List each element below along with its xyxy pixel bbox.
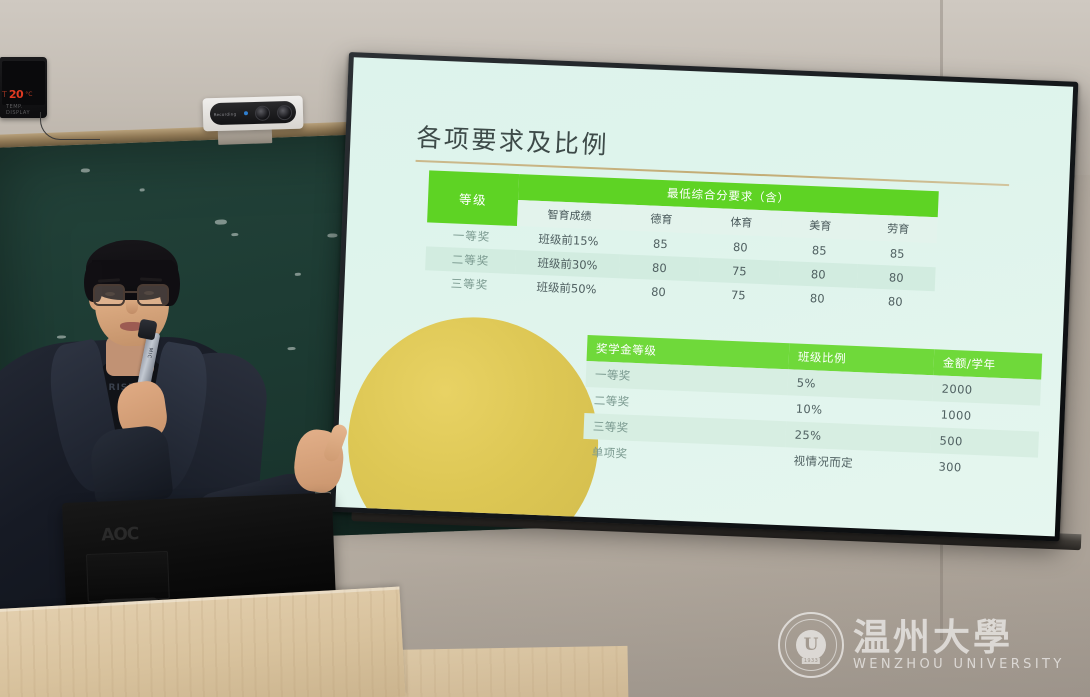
cell-physical: 75 <box>699 258 780 285</box>
cell-ratio: 视情况而定 <box>784 447 930 479</box>
presenter-left-sleeve <box>88 424 173 506</box>
ceiling-camera-bar: Recording <box>203 96 304 132</box>
scholarship-table: 奖学金等级 班级比例 金额/学年 一等奖 5% 2000 二等奖 10% 100… <box>582 335 1042 484</box>
gold-circle-decoration <box>343 312 603 536</box>
chalk-dust <box>140 188 145 191</box>
subheader-aesthetic: 美育 <box>781 211 860 240</box>
university-name-en: WENZHOU UNIVERSITY <box>853 657 1065 672</box>
university-watermark: U 1933 温州大學 WENZHOU UNIVERSITY <box>778 612 1065 678</box>
cell-moral: 85 <box>620 230 701 257</box>
cell-physical: 80 <box>700 234 781 261</box>
camera-face: Recording <box>210 101 297 125</box>
university-name-cn: 温州大學 <box>853 618 1065 657</box>
cell-aesthetic: 80 <box>778 285 857 312</box>
watermark-text-block: 温州大學 WENZHOU UNIVERSITY <box>853 618 1065 673</box>
camera-lens-icon <box>255 105 270 120</box>
subheader-labor: 劳育 <box>859 214 938 243</box>
requirements-table: 等级 最低综合分要求（含） 智育成绩 德育 体育 美育 劳育 一等奖 班级前15… <box>424 170 939 315</box>
glasses-bridge <box>125 291 137 293</box>
cell-aesthetic: 80 <box>779 261 858 288</box>
thermometer-readout: T 20 °C <box>2 87 45 101</box>
camera-led-icon <box>244 111 248 115</box>
university-seal-icon: U 1933 <box>778 612 844 678</box>
seal-founding-year: 1933 <box>802 658 820 664</box>
monitor-brand-logo: AOC <box>101 524 139 545</box>
subheader-moral: 德育 <box>621 204 702 233</box>
cell-labor: 80 <box>856 288 935 315</box>
glasses-lens-right <box>137 284 169 306</box>
thermometer-prefix: T <box>2 90 7 99</box>
subheader-physical: 体育 <box>701 208 782 237</box>
chalk-dust <box>215 219 227 224</box>
thermometer-unit: °C <box>25 91 32 98</box>
microphone-head <box>137 319 157 341</box>
classroom-photo: T 20 °C TEMP. DISPLAY Recording 各项要求及比例 <box>0 0 1090 697</box>
camera-lens-icon <box>277 104 292 119</box>
projection-display: 各项要求及比例 等级 最低综合分要求（含） 智育成绩 德育 体育 <box>330 52 1078 542</box>
cell-amount: 300 <box>929 453 1038 483</box>
cell-moral: 80 <box>619 254 700 281</box>
cell-rank: 一等奖 <box>426 222 517 250</box>
chalk-dust <box>81 168 90 172</box>
presenter-nose <box>126 300 138 314</box>
thermometer-cable <box>40 112 100 140</box>
presentation-slide: 各项要求及比例 等级 最低综合分要求（含） 智育成绩 德育 体育 <box>335 57 1073 536</box>
podium-right-section <box>377 646 628 697</box>
cell-rank: 二等奖 <box>425 246 516 274</box>
cell-aesthetic: 85 <box>780 237 859 264</box>
slide-title: 各项要求及比例 <box>416 118 610 162</box>
thermometer-temperature: 20 <box>9 88 23 101</box>
camera-brand-label: Recording <box>214 111 237 117</box>
cell-academic: 班级前50% <box>514 274 619 302</box>
monitor-vesa-plate <box>86 551 170 602</box>
wall-thermometer: T 20 °C TEMP. DISPLAY <box>0 57 47 118</box>
glasses-lens-left <box>93 284 125 306</box>
cell-labor: 80 <box>857 264 936 291</box>
cell-moral: 80 <box>618 278 699 305</box>
seal-monogram: U <box>796 630 826 660</box>
cell-labor: 85 <box>858 240 937 267</box>
cell-rank: 三等奖 <box>424 270 515 298</box>
header-rank: 等级 <box>427 170 519 226</box>
cell-physical: 75 <box>698 282 779 309</box>
